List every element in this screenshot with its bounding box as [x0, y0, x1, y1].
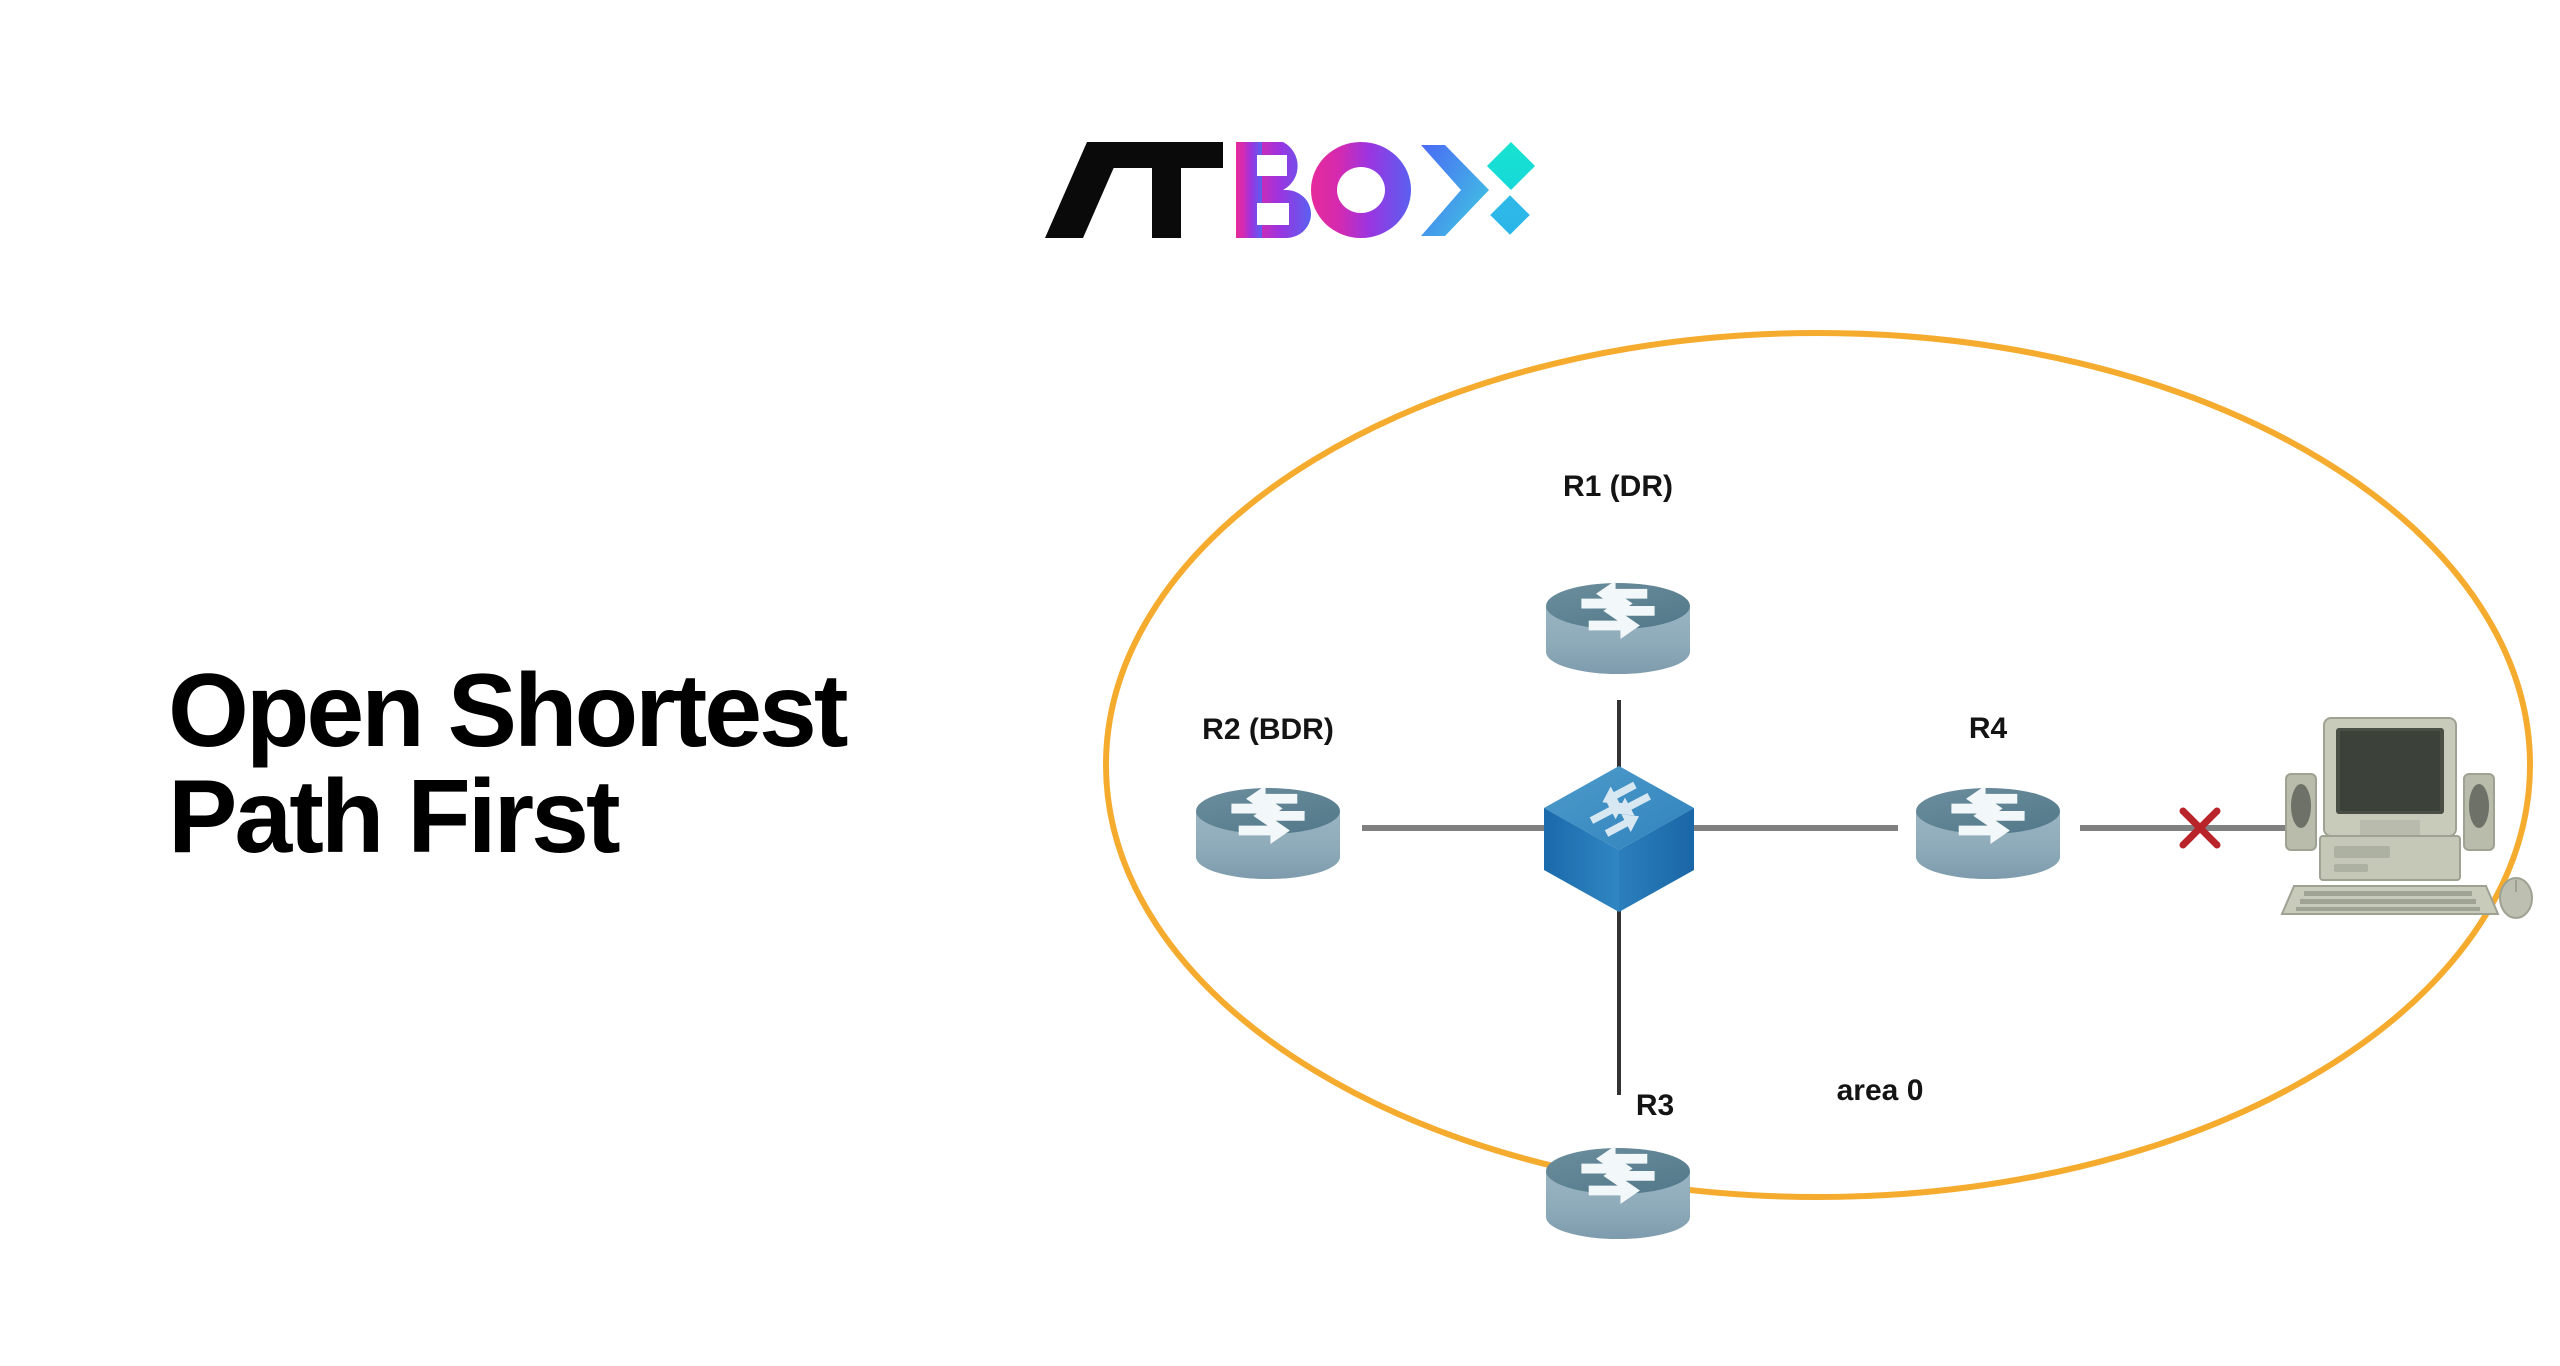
logo-letter-o [1311, 142, 1411, 238]
node-pc1[interactable] [2282, 718, 2532, 918]
node-r2-label: R2 (BDR) [1202, 713, 1334, 746]
page-title-line-2: Path First [168, 764, 1128, 870]
page-title-line-1: Open Shortest [168, 658, 1128, 764]
node-r1[interactable]: R1 (DR) [1546, 470, 1690, 674]
node-r4-label: R4 [1969, 712, 2008, 745]
node-r1-label: R1 (DR) [1563, 470, 1673, 503]
node-sw1[interactable] [1544, 766, 1694, 912]
area-0-label: area 0 [1837, 1074, 1924, 1107]
node-r2[interactable]: R2 (BDR) [1196, 713, 1340, 879]
node-r3-label: R3 [1636, 1089, 1674, 1122]
logo-x-icon [1421, 142, 1535, 236]
node-r4[interactable]: R4 [1916, 712, 2060, 879]
logo-letter-t [1109, 142, 1223, 238]
diagram-svg: R1 (DR) R2 (BDR) R3 R4 [1090, 300, 2550, 1240]
logo-svg [1045, 135, 1545, 245]
ospf-area-boundary [1106, 333, 2530, 1197]
itbox-logo [1045, 135, 1545, 245]
node-r3[interactable]: R3 [1546, 1089, 1690, 1239]
ospf-network-diagram: R1 (DR) R2 (BDR) R3 R4 [1090, 300, 2550, 1240]
page-title: Open Shortest Path First [168, 658, 1128, 870]
